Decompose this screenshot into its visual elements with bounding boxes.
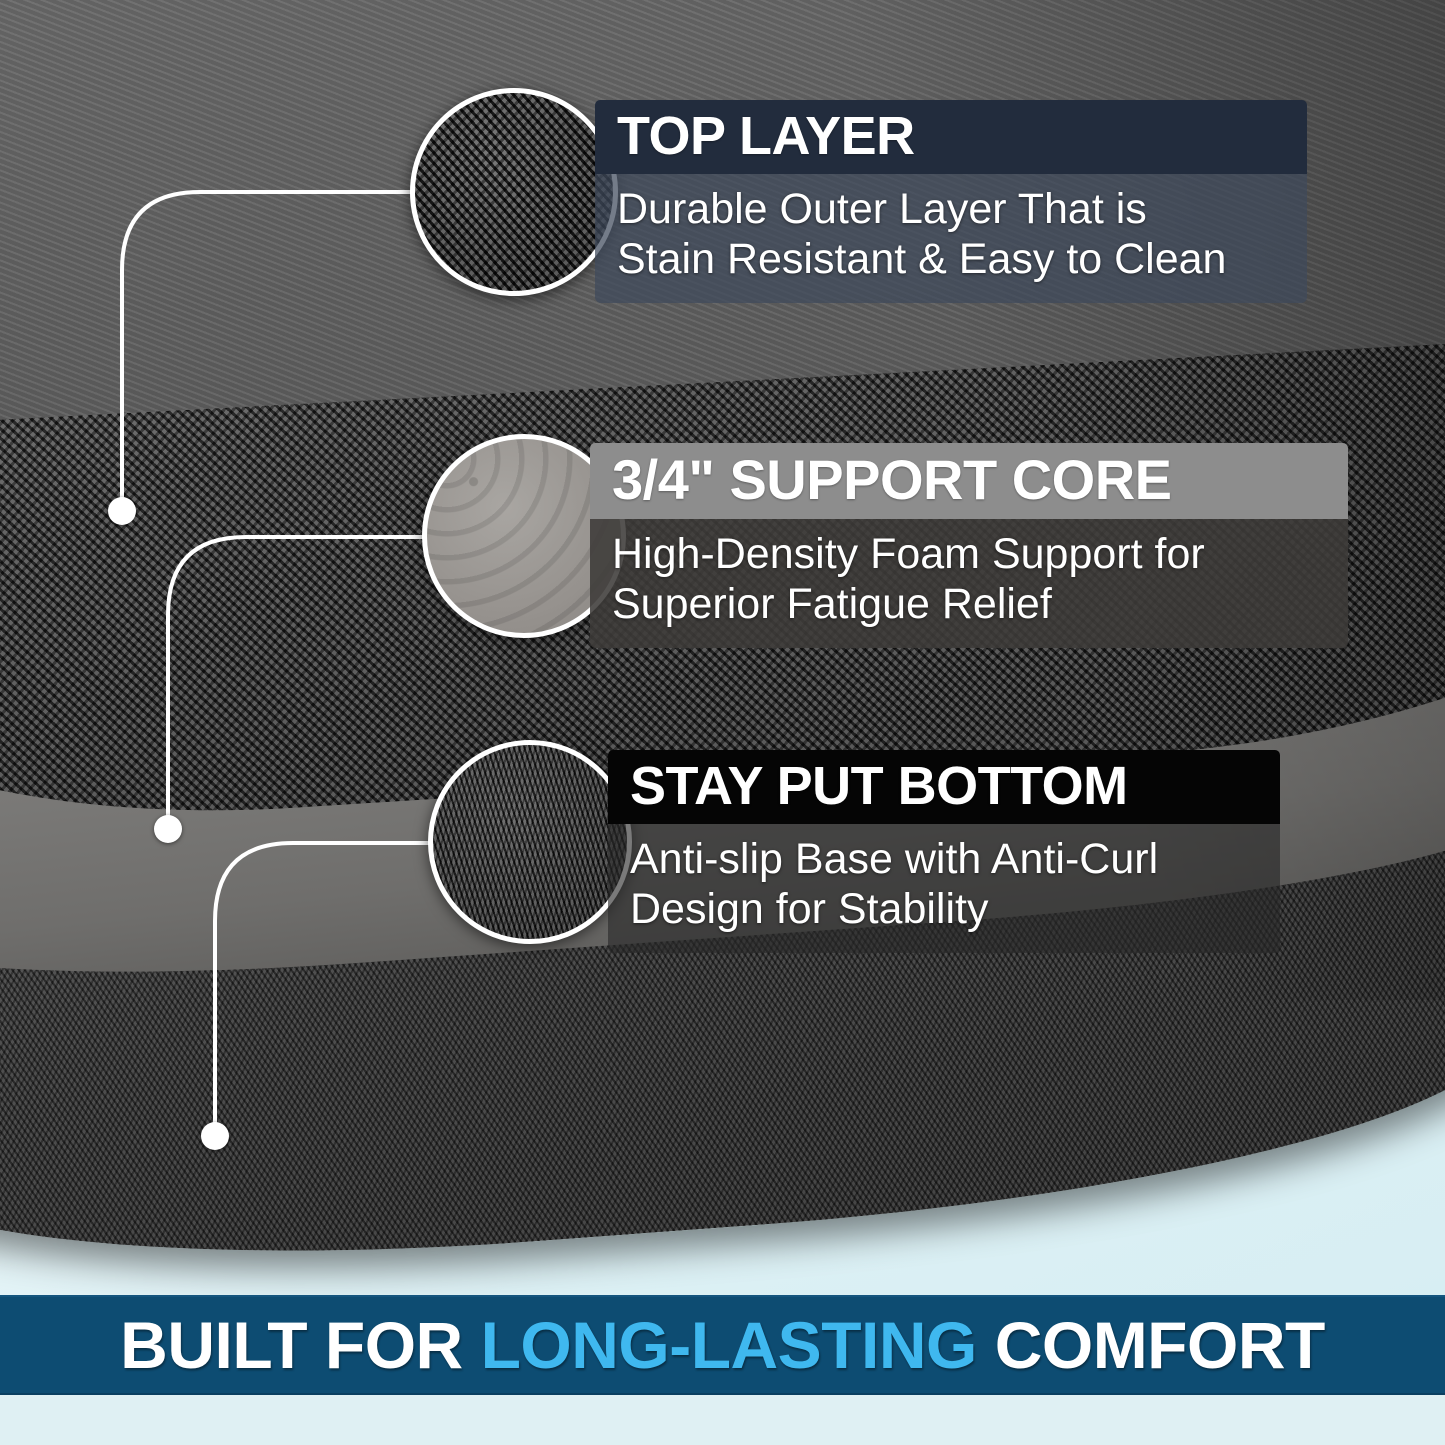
banner-text-part1: BUILT FOR [120, 1308, 480, 1382]
callout-top-layer: TOP LAYER Durable Outer Layer That is St… [595, 100, 1307, 303]
callout-support-core-header: 3/4" SUPPORT CORE [590, 443, 1348, 519]
callout-support-core-desc-line1: High-Density Foam Support for [612, 529, 1326, 579]
top-layer-texture-swatch [410, 88, 618, 296]
callout-top-layer-header: TOP LAYER [595, 100, 1307, 174]
callout-stay-put-bottom-header: STAY PUT BOTTOM [608, 750, 1280, 824]
callout-top-layer-title: TOP LAYER [617, 109, 1285, 163]
callout-support-core-body: High-Density Foam Support for Superior F… [590, 519, 1348, 648]
bottom-banner: BUILT FOR LONG-LASTING COMFORT [0, 1295, 1445, 1395]
leader-line-stay-put-bottom [215, 843, 430, 1125]
infographic-stage: TOP LAYER Durable Outer Layer That is St… [0, 0, 1445, 1445]
bottom-banner-text: BUILT FOR LONG-LASTING COMFORT [120, 1307, 1325, 1383]
leader-dot-stay-put-bottom [201, 1122, 229, 1150]
callout-stay-put-bottom-desc-line2: Design for Stability [630, 884, 1258, 934]
banner-text-part2: COMFORT [977, 1308, 1325, 1382]
callout-support-core-title: 3/4" SUPPORT CORE [612, 452, 1326, 508]
leader-line-support-core [168, 537, 424, 818]
leader-dot-support-core [154, 815, 182, 843]
leader-dot-top-layer [108, 497, 136, 525]
callout-support-core-desc-line2: Superior Fatigue Relief [612, 579, 1326, 629]
callout-top-layer-body: Durable Outer Layer That is Stain Resist… [595, 174, 1307, 303]
callout-stay-put-bottom-title: STAY PUT BOTTOM [630, 759, 1258, 813]
leader-line-top-layer [122, 192, 412, 500]
callout-top-layer-desc-line2: Stain Resistant & Easy to Clean [617, 234, 1285, 284]
stay-put-bottom-weave-swatch [428, 740, 632, 944]
callout-stay-put-bottom-body: Anti-slip Base with Anti-Curl Design for… [608, 824, 1280, 953]
banner-text-highlight: LONG-LASTING [481, 1308, 977, 1382]
callout-stay-put-bottom: STAY PUT BOTTOM Anti-slip Base with Anti… [608, 750, 1280, 953]
callout-support-core: 3/4" SUPPORT CORE High-Density Foam Supp… [590, 443, 1348, 648]
callout-stay-put-bottom-desc-line1: Anti-slip Base with Anti-Curl [630, 834, 1258, 884]
callout-top-layer-desc-line1: Durable Outer Layer That is [617, 184, 1285, 234]
